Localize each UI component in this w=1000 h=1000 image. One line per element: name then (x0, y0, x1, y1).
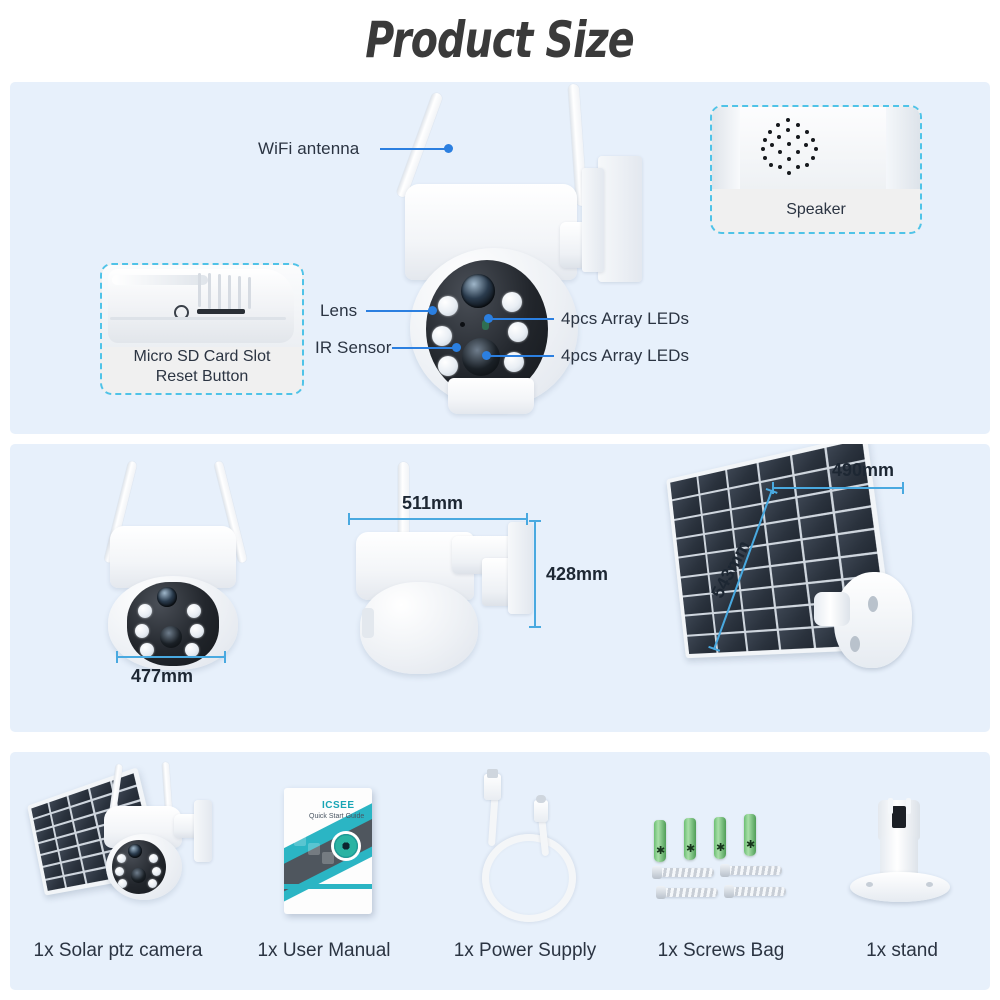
bundle-led-4 (152, 867, 161, 876)
dimensions-panel: 477mm 511mm 428mm (10, 444, 990, 732)
manual-icon-1 (294, 834, 306, 846)
bundle-led-3 (115, 867, 124, 876)
wall-anchor-2: ✱ (684, 818, 696, 860)
measure-line-477mm (116, 656, 226, 658)
screw-head-1 (652, 866, 662, 879)
speaker-callout[interactable]: Speaker (710, 105, 922, 234)
stand-screw-hole-1 (866, 882, 873, 887)
manual-subtitle: Quick Start Guide (309, 813, 364, 820)
dimension-511mm: 511mm (402, 493, 463, 514)
side-mount-plate (508, 522, 532, 614)
leader-dot-array-leds-upper (484, 314, 493, 323)
speaker-caption-line1: Speaker (712, 200, 920, 220)
housing-top-edge (112, 275, 208, 285)
measure-line-490mm (772, 487, 904, 489)
dimension-428mm: 428mm (546, 564, 608, 585)
screw-4 (730, 887, 786, 896)
label-wifi-antenna: WiFi antenna (258, 139, 359, 159)
side-vent (362, 608, 374, 638)
usb-plug-c-tip (536, 795, 546, 803)
bundle-camera (88, 762, 216, 908)
package-contents-panel: 1x Solar ptz camera ICSEE Quick Start Gu… (10, 752, 990, 990)
measure-line-428mm (534, 520, 536, 628)
leader-dot-ir-sensor (452, 343, 461, 352)
micro-sd-callout-caption: Micro SD Card Slot Reset Button (102, 347, 302, 387)
manual-camera-eye-icon (334, 834, 358, 858)
solar-mount-arm (814, 592, 850, 626)
screw-head-3 (656, 886, 666, 899)
vent-1 (198, 273, 201, 307)
bracket-hole-1 (868, 596, 878, 612)
wall-mount-plate (598, 156, 642, 282)
camera-side-view (340, 458, 550, 674)
anchor-star-1: ✱ (656, 846, 665, 857)
screw-head-4 (724, 885, 734, 898)
speaker-grille-icon (760, 117, 820, 177)
screw-1 (658, 868, 714, 877)
screw-2 (726, 866, 782, 875)
package-item-power-supply[interactable]: 1x Power Supply (430, 762, 620, 980)
vent-5 (238, 276, 241, 310)
screws-illustration: ✱ ✱ ✱ ✱ (626, 762, 816, 932)
stand-bracket-slot (892, 806, 906, 828)
feature-callouts-panel: WiFi antenna Lens IR Sensor 4pcs Array L… (10, 82, 990, 434)
anchor-star-4: ✱ (746, 840, 755, 851)
bundle-mount-plate (194, 800, 212, 862)
title-bar: Product Size (0, 0, 1000, 80)
side-dome (360, 582, 478, 674)
page-title: Product Size (366, 11, 634, 69)
package-item-screws-bag[interactable]: ✱ ✱ ✱ ✱ 1x Screws Bag (626, 762, 816, 980)
front-secondary-lens (160, 626, 182, 648)
anchor-star-2: ✱ (686, 844, 695, 855)
housing-right-edge (886, 107, 920, 189)
camera-front-view (80, 458, 310, 674)
micro-sd-caption-line1: Micro SD Card Slot (102, 347, 302, 367)
bundle-led-1 (117, 854, 126, 863)
vent-3 (218, 274, 221, 310)
micro-sd-card-slot (197, 309, 245, 314)
screw-head-2 (720, 864, 730, 877)
front-led-1 (138, 604, 152, 618)
bundle-led-2 (149, 854, 158, 863)
power-cable-illustration (430, 762, 620, 932)
caption-screws-bag: 1x Screws Bag (626, 940, 816, 962)
caption-stand: 1x stand (822, 940, 982, 962)
led-5 (438, 356, 458, 376)
label-array-leds-upper: 4pcs Array LEDs (561, 309, 689, 329)
wall-anchor-1: ✱ (654, 820, 666, 862)
package-item-stand[interactable]: 1x stand (822, 762, 982, 980)
stand-tab-right (906, 798, 911, 814)
screw-3 (662, 888, 718, 897)
front-face-plate (127, 582, 219, 666)
stand-illustration (822, 762, 982, 932)
solar-panel-illustration (650, 464, 930, 694)
usb-plug-c (534, 800, 548, 822)
bundle-face-plate (112, 840, 166, 894)
leader-lens (366, 310, 432, 312)
micro-sd-callout[interactable]: Micro SD Card Slot Reset Button (100, 263, 304, 395)
user-manual-booklet: ICSEE Quick Start Guide (284, 788, 372, 914)
front-main-lens (157, 587, 177, 607)
cable-coil (482, 834, 576, 922)
usb-plug-a (484, 774, 501, 800)
anchor-star-3: ✱ (716, 843, 725, 854)
label-ir-sensor: IR Sensor (315, 338, 392, 358)
manual-icon-2 (308, 843, 320, 855)
caption-power-supply: 1x Power Supply (430, 940, 620, 962)
led-4 (508, 322, 528, 342)
speaker-photo (712, 107, 920, 189)
wall-anchor-3: ✱ (714, 817, 726, 859)
manual-brand: ICSEE (322, 800, 355, 811)
caption-user-manual: 1x User Manual (234, 940, 414, 962)
stand-base-plate (850, 872, 950, 902)
dimension-490mm: 490mm (832, 460, 894, 481)
led-1 (438, 296, 458, 316)
leader-dot-wifi-antenna (444, 144, 453, 153)
secondary-lens (462, 338, 500, 376)
camera-base-collar (448, 378, 534, 414)
front-led-6 (185, 643, 199, 657)
vent-6 (248, 277, 251, 309)
dimension-477mm: 477mm (131, 666, 193, 687)
leader-dot-array-leds-lower (482, 351, 491, 360)
label-lens: Lens (320, 301, 357, 321)
front-led-5 (140, 643, 154, 657)
manual-band-bottom (284, 884, 372, 889)
manual-icon-3 (322, 852, 334, 864)
stand-screw-hole-2 (926, 882, 933, 887)
measure-line-511mm (348, 518, 528, 520)
hero-camera-illustration (310, 82, 670, 434)
housing-lower-edge (110, 317, 286, 320)
product-size-infographic: Product Size (0, 0, 1000, 1000)
front-led-4 (190, 624, 204, 638)
vent-4 (228, 275, 231, 310)
leader-wifi-antenna (380, 148, 448, 150)
speaker-callout-caption: Speaker (712, 200, 920, 220)
stand-tab-left (888, 798, 893, 814)
bundle-secondary-lens (131, 868, 146, 883)
wall-mount-bracket (582, 168, 604, 272)
bundle-led-5 (118, 879, 127, 888)
label-array-leds-lower: 4pcs Array LEDs (561, 346, 689, 366)
antenna-left-icon (396, 91, 444, 198)
led-3 (432, 326, 452, 346)
caption-solar-ptz-camera: 1x Solar ptz camera (20, 940, 216, 962)
micro-sd-photo (102, 265, 302, 347)
housing-left-edge (712, 107, 740, 189)
bundle-led-6 (148, 879, 157, 888)
front-led-2 (187, 604, 201, 618)
bracket-hole-2 (850, 636, 860, 652)
leader-array-leds-lower (488, 355, 554, 357)
bundle-main-lens (128, 844, 142, 858)
package-item-user-manual[interactable]: ICSEE Quick Start Guide 1x User Manual (234, 762, 414, 980)
usb-plug-a-tip (487, 769, 498, 778)
front-led-3 (135, 624, 149, 638)
leader-array-leds-upper (488, 318, 554, 320)
main-lens (461, 274, 495, 308)
micro-sd-caption-line2: Reset Button (102, 367, 302, 387)
package-item-solar-ptz-camera[interactable]: 1x Solar ptz camera (20, 762, 216, 980)
ir-sensor-dot (460, 322, 465, 327)
led-2 (502, 292, 522, 312)
vent-2 (208, 273, 211, 309)
leader-dot-lens (428, 306, 437, 315)
leader-ir-sensor (392, 347, 456, 349)
wall-anchor-4: ✱ (744, 814, 756, 856)
